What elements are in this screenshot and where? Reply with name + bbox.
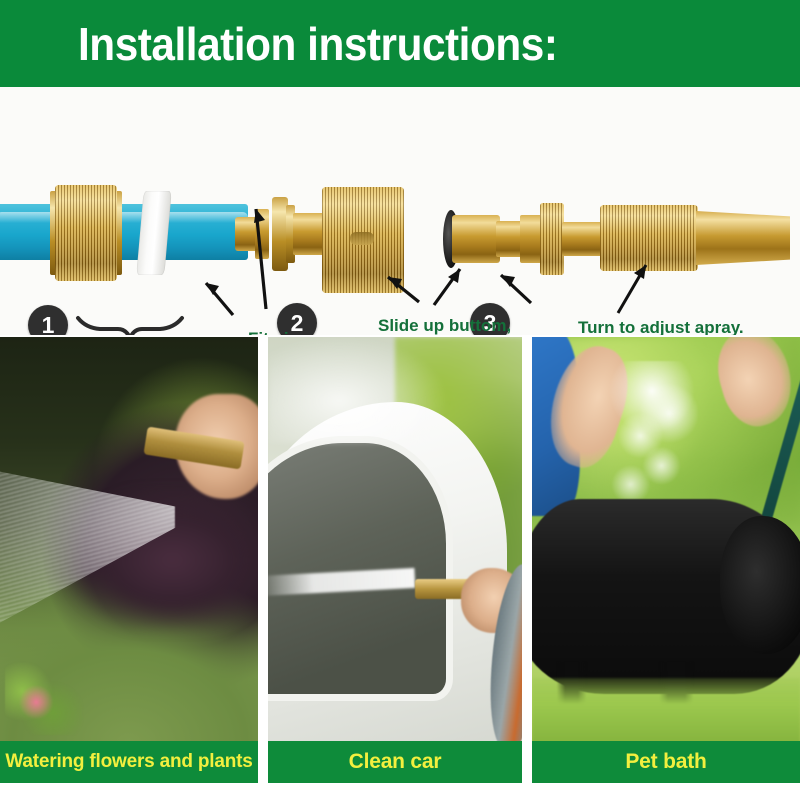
- page-title: Installation instructions:: [78, 17, 557, 71]
- photo-clean-car: [268, 337, 522, 743]
- caption-label: Watering flowers and plants: [5, 751, 252, 773]
- hose-part: [0, 204, 248, 260]
- nozzle-shaft: [562, 222, 604, 256]
- step-badge-1: 1: [28, 305, 68, 335]
- photo-watering-flowers: [0, 337, 258, 743]
- quick-connect-head: [452, 215, 500, 263]
- knurl-texture: [55, 185, 117, 281]
- step-3-caption: Slide up buttom, to insert nozzle or to …: [378, 317, 511, 335]
- grass-foreground: [532, 678, 800, 743]
- collar-slot: [350, 232, 374, 245]
- caption-label: Pet bath: [625, 750, 706, 774]
- use-case-panels: Watering flowers and plants Clean car: [0, 335, 800, 800]
- flower-cluster: [5, 662, 82, 735]
- brass-stem-shoulder: [255, 209, 269, 259]
- use-case-panel-clean-car: Clean car: [268, 335, 522, 787]
- use-case-panel-watering: Watering flowers and plants: [0, 335, 258, 787]
- assembly-diagram: 1 2 3 Insert these on 1/2 pipe. Fit pipe…: [0, 87, 800, 335]
- nozzle-tip: [696, 211, 790, 265]
- white-ferrule-part: [136, 191, 171, 275]
- black-dog-head: [720, 516, 800, 654]
- caption-bar-pet-bath: Pet bath: [532, 741, 800, 783]
- caption-label: Clean car: [349, 750, 442, 774]
- hose-highlight: [0, 212, 248, 223]
- nozzle-collar: [540, 203, 564, 275]
- brass-stem-body: [293, 213, 325, 255]
- product-instruction-page: Installation instructions:: [0, 0, 800, 800]
- use-case-panel-pet-bath: Pet bath: [532, 335, 800, 787]
- brace-icon: [78, 318, 182, 335]
- knurl-texture: [600, 205, 698, 271]
- header-banner: Installation instructions:: [0, 0, 800, 87]
- photo-pet-bath: [532, 337, 800, 743]
- nozzle-adjust-grip: [600, 205, 698, 271]
- water-mist: [268, 337, 446, 443]
- brass-nut-part: [55, 185, 117, 281]
- car-window: [268, 443, 446, 695]
- caption-bar-watering: Watering flowers and plants: [0, 741, 258, 783]
- nozzle-adjust-caption: Turn to adjust apray.: [578, 319, 744, 335]
- caption-bar-clean-car: Clean car: [268, 741, 522, 783]
- knurl-texture: [540, 203, 564, 275]
